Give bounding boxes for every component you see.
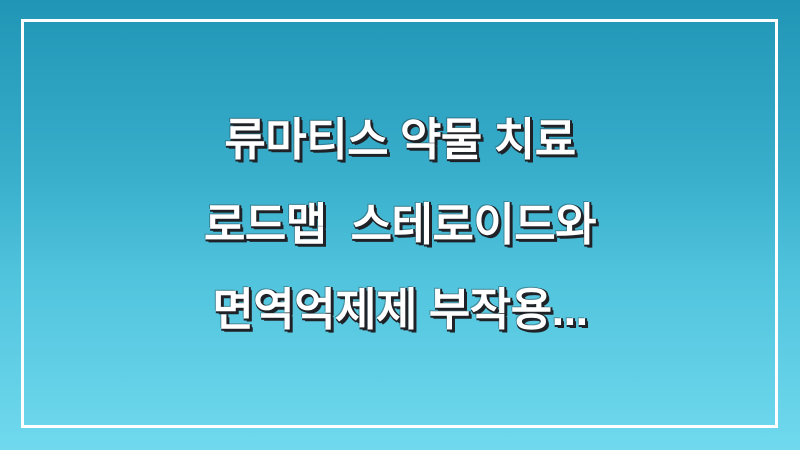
title-line-3: 면역억제제 부작용... — [0, 287, 800, 333]
title-line-1: 류마티스 약물 치료 — [0, 117, 800, 163]
thumbnail-card: 류마티스 약물 치료 로드맵 스테로이드와 면역억제제 부작용... — [0, 0, 800, 450]
title-line-2: 로드맵 스테로이드와 — [0, 202, 800, 248]
title-block: 류마티스 약물 치료 로드맵 스테로이드와 면역억제제 부작용... — [0, 0, 800, 450]
